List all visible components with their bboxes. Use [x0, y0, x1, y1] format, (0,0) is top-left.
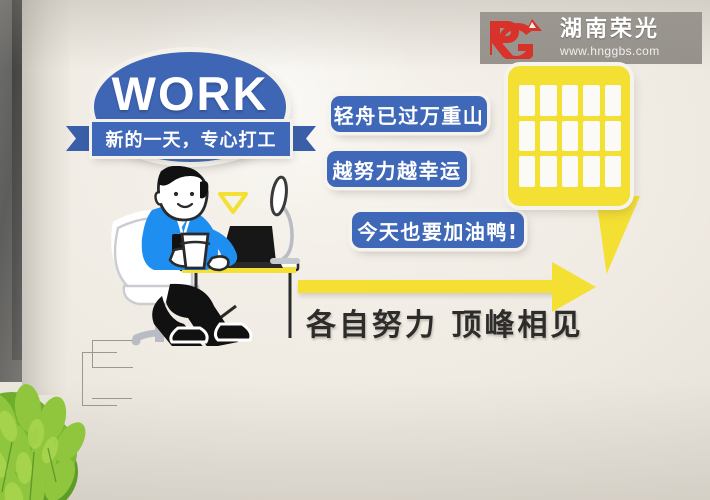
- calendar-speech-bubble: [508, 66, 630, 206]
- calendar-cell: [583, 85, 599, 116]
- slogan-badge-3-text: 今天也要加油鸭!: [357, 216, 518, 245]
- calendar-cell: [540, 85, 556, 116]
- calendar-cell: [540, 121, 556, 152]
- slogan-badge-1-text: 轻舟已过万重山: [334, 100, 485, 129]
- company-website: www.hnggbs.com: [560, 44, 660, 58]
- slogan-badge-2: 越努力越幸运: [327, 151, 467, 187]
- calendar-cell: [583, 156, 599, 187]
- calendar-cell: [583, 121, 599, 152]
- arrow-shaft: [298, 280, 560, 293]
- calendar-cell: [605, 156, 621, 187]
- calendar-cell: [562, 121, 578, 152]
- slogan-badge-2-text: 越努力越幸运: [333, 155, 462, 184]
- green-plant: [0, 322, 110, 500]
- ribbon-banner: 新的一天，专心打工: [66, 122, 316, 156]
- speech-bubble-tail: [596, 196, 640, 274]
- calendar-grid: [519, 85, 621, 187]
- bottom-slogan: 各自努力 顶峰相见: [306, 300, 636, 344]
- calendar-cell: [562, 85, 578, 116]
- ribbon-text: 新的一天，专心打工: [106, 126, 277, 152]
- logo-text-block: 湖南荣光 www.hnggbs.com: [560, 18, 660, 57]
- company-name-cn: 湖南荣光: [560, 18, 660, 41]
- ribbon-center: 新的一天，专心打工: [92, 122, 290, 156]
- calendar-cell: [519, 85, 535, 116]
- man-working-illustration: [104, 166, 310, 346]
- calendar-cell: [519, 121, 535, 152]
- calendar-cell: [519, 156, 535, 187]
- work-headline: WORK: [94, 66, 286, 121]
- calendar-cell: [605, 85, 621, 116]
- calendar-cell: [562, 156, 578, 187]
- calendar-cell: [540, 156, 556, 187]
- rg-logo-icon: [486, 17, 554, 59]
- calendar-cell: [605, 121, 621, 152]
- slogan-badge-1: 轻舟已过万重山: [331, 96, 487, 132]
- wall-decoration-scene: 湖南荣光 www.hnggbs.com WORK 新的一天，专心打工 轻舟已过万…: [0, 0, 710, 500]
- company-logo-plate: 湖南荣光 www.hnggbs.com: [480, 12, 702, 64]
- slogan-badge-3: 今天也要加油鸭!: [352, 212, 524, 248]
